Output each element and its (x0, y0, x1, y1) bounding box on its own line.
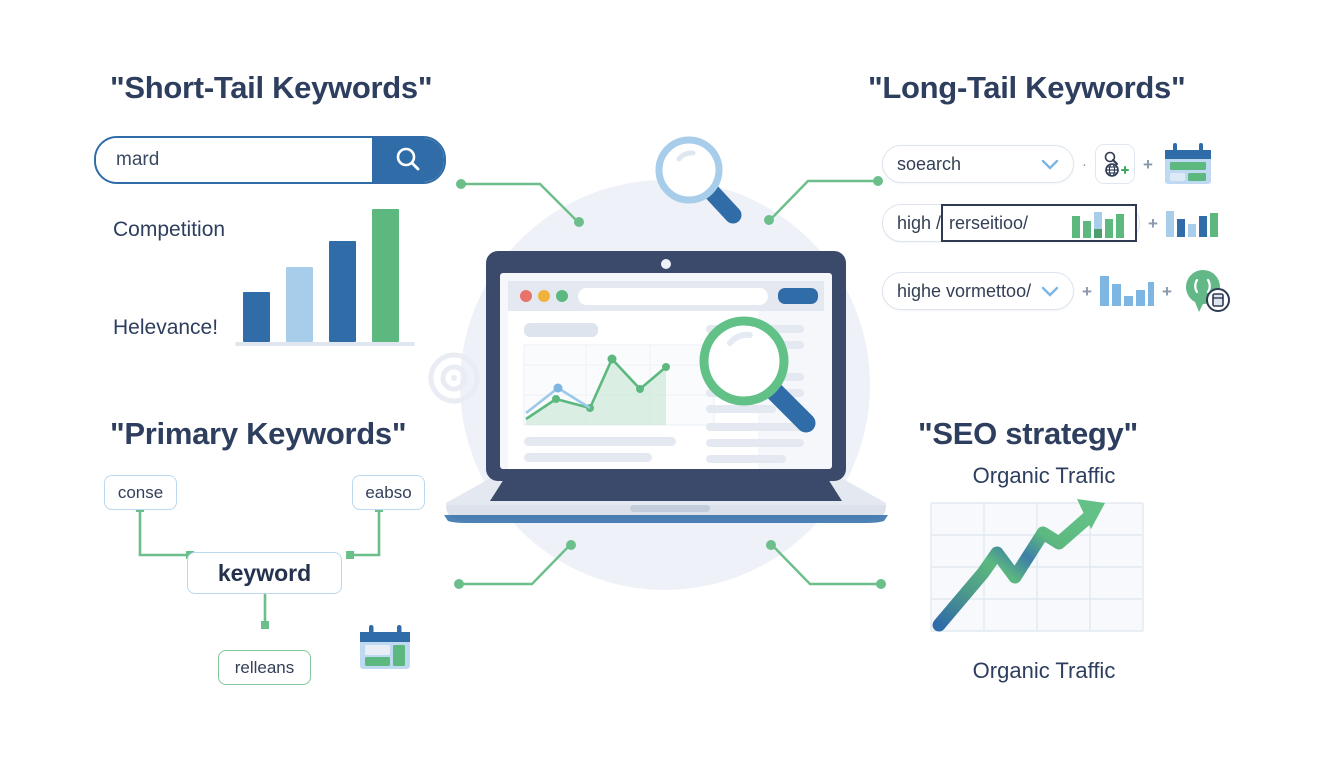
node-center-label: keyword (218, 560, 311, 587)
bar-chart-3 (1100, 274, 1154, 308)
long-tail-value-3: highe vormettoo/ (897, 281, 1031, 302)
plus-sign: + (1082, 283, 1092, 300)
node-left-label: conse (118, 483, 163, 503)
short-tail-bar-chart (235, 200, 415, 350)
plus-sign: + (1148, 215, 1158, 232)
short-tail-heading: "Short-Tail Keywords" (110, 70, 432, 106)
bar-chart-2 (1166, 207, 1222, 239)
chart-baseline (235, 342, 415, 346)
seo-strategy-heading: "SEO strategy" (918, 416, 1138, 452)
chevron-down-icon[interactable] (1033, 158, 1059, 170)
long-tail-inner-value-2: rerseitioo/ (949, 213, 1028, 234)
long-tail-row-3: highe vormettoo/ + + (882, 267, 1230, 315)
relevance-label: Helevance! (113, 316, 218, 340)
competition-label: Competition (113, 218, 225, 242)
plus-sign: + (1143, 156, 1153, 173)
row-separator: · (1082, 157, 1087, 172)
plus-sign-2: + (1162, 283, 1172, 300)
bar-1 (243, 292, 270, 342)
search-globe-icon[interactable] (1095, 144, 1135, 184)
mindmap-node-bottom[interactable]: relleans (218, 650, 311, 685)
search-icon (393, 145, 423, 175)
mindmap-node-left[interactable]: conse (104, 475, 177, 510)
primary-keywords-heading: "Primary Keywords" (110, 416, 406, 452)
laptop-illustration (438, 243, 894, 531)
node-bottom-label: relleans (235, 658, 295, 678)
bar-2 (286, 267, 313, 342)
long-tail-inner-field-2[interactable]: rerseitioo/ (941, 204, 1137, 242)
inline-bar-chart-2 (1072, 210, 1130, 240)
long-tail-field-2[interactable]: high / rerseitioo/ (882, 204, 1140, 242)
short-tail-search-bar[interactable]: mard (94, 136, 446, 184)
seo-top-label: Organic Traffic (915, 463, 1173, 489)
long-tail-row-2: high / rerseitioo/ + (882, 204, 1222, 242)
search-input[interactable]: mard (96, 138, 372, 182)
bar-3 (329, 241, 356, 343)
seo-growth-chart (925, 495, 1165, 645)
node-right-label: eabso (365, 483, 411, 503)
infographic-canvas: "Short-Tail Keywords" mard Competition H… (0, 0, 1344, 768)
long-tail-row-1: soearch · + (882, 140, 1215, 188)
seo-bottom-label: Organic Traffic (915, 658, 1173, 684)
long-tail-value-2: high / (897, 213, 941, 234)
mindmap-node-center[interactable]: keyword (187, 552, 342, 594)
chevron-down-icon[interactable] (1033, 285, 1059, 297)
search-button[interactable] (372, 138, 444, 182)
calendar-icon[interactable] (1161, 140, 1215, 188)
bar-4 (372, 209, 399, 342)
long-tail-select-1[interactable]: soearch (882, 145, 1074, 183)
mindmap-node-right[interactable]: eabso (352, 475, 425, 510)
long-tail-heading: "Long-Tail Keywords" (868, 70, 1185, 106)
magnifier-icon (655, 135, 755, 230)
calendar-icon[interactable] (356, 622, 414, 674)
voice-signal-icon[interactable] (1180, 267, 1230, 315)
long-tail-value-1: soearch (897, 154, 961, 175)
long-tail-select-3[interactable]: highe vormettoo/ (882, 272, 1074, 310)
